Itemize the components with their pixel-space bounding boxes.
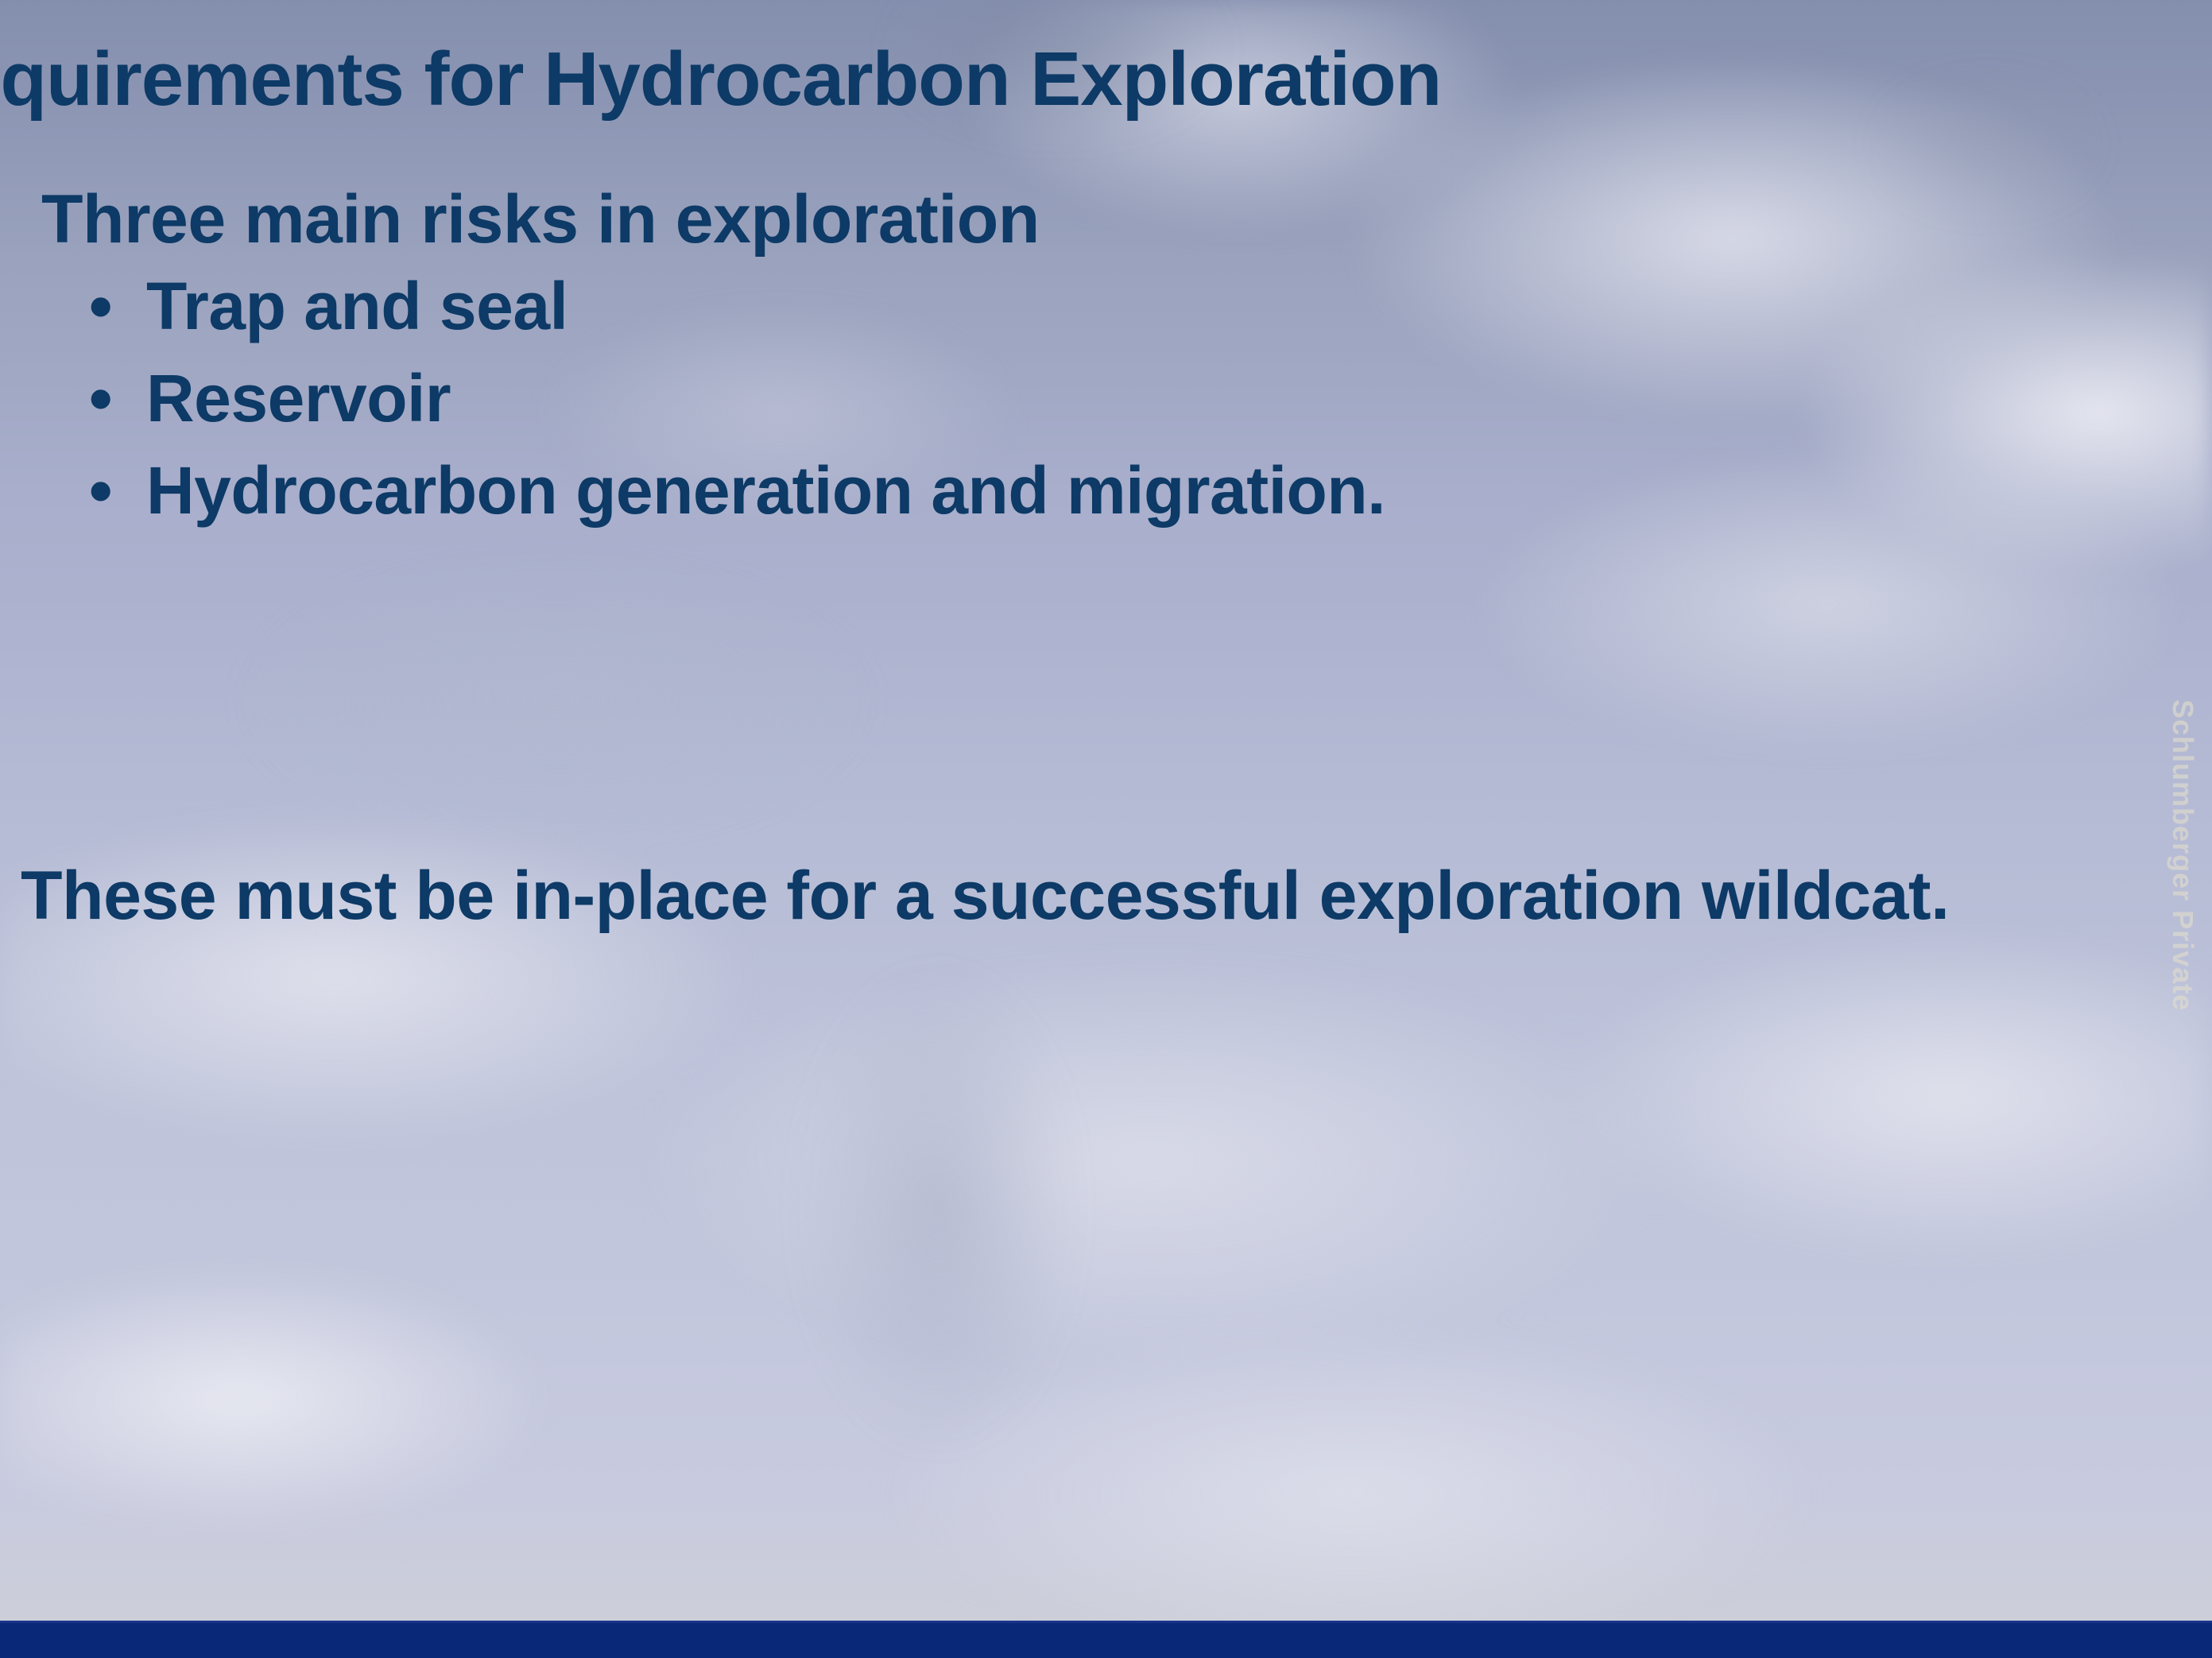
bullet-dot-icon: • bbox=[89, 453, 146, 528]
list-item: • Trap and seal bbox=[89, 269, 2212, 343]
bullet-dot-icon: • bbox=[89, 361, 146, 436]
slide-body: Three main risks in exploration • Trap a… bbox=[0, 181, 2212, 546]
bullet-dot-icon: • bbox=[89, 269, 146, 343]
bullet-list: • Trap and seal • Reservoir • Hydrocarbo… bbox=[0, 269, 2212, 528]
list-item-label: Reservoir bbox=[146, 361, 2212, 436]
list-item-label: Trap and seal bbox=[146, 269, 2212, 343]
list-item: • Hydrocarbon generation and migration. bbox=[89, 453, 2212, 528]
closing-paragraph: These must be in-place for a successful … bbox=[21, 857, 1976, 935]
slide-content: equirements for Hydrocarbon Exploration … bbox=[0, 0, 2212, 1658]
list-item: • Reservoir bbox=[89, 361, 2212, 436]
footer-accent-bar bbox=[0, 1621, 2212, 1658]
presentation-slide: Schlumberger Private equirements for Hyd… bbox=[0, 0, 2212, 1658]
body-lead-line: Three main risks in exploration bbox=[41, 181, 2212, 258]
slide-title: equirements for Hydrocarbon Exploration bbox=[0, 38, 2168, 121]
list-item-label: Hydrocarbon generation and migration. bbox=[146, 453, 2212, 528]
